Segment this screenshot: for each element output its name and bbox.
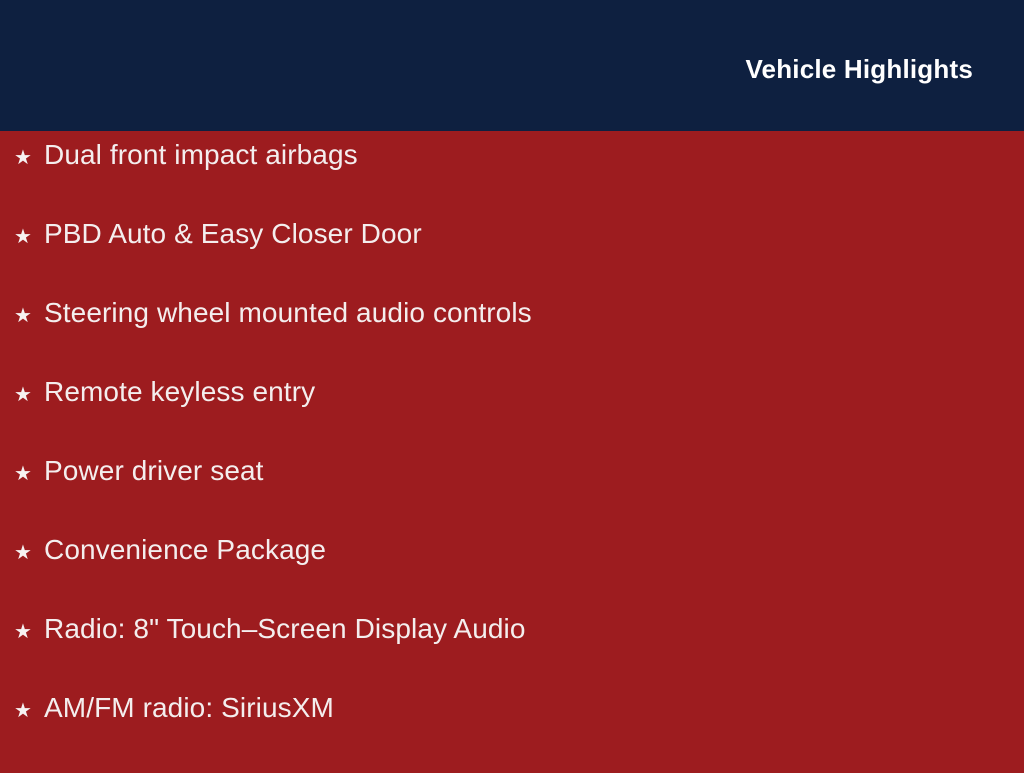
slide-header: Vehicle Highlights bbox=[0, 0, 1024, 131]
list-item-label: AM/FM radio: SiriusXM bbox=[44, 694, 334, 722]
list-item: ★ Convenience Package bbox=[0, 536, 1024, 615]
vehicle-highlights-slide: Vehicle Highlights ★ Dual front impact a… bbox=[0, 0, 1024, 768]
slide-body: ★ Dual front impact airbags ★ PBD Auto &… bbox=[0, 131, 1024, 768]
star-icon: ★ bbox=[14, 622, 44, 642]
list-item-label: PBD Auto & Easy Closer Door bbox=[44, 220, 422, 248]
star-icon: ★ bbox=[14, 306, 44, 326]
list-item: ★ AM/FM radio: SiriusXM bbox=[0, 694, 1024, 773]
list-item-label: Remote keyless entry bbox=[44, 378, 315, 406]
star-icon: ★ bbox=[14, 464, 44, 484]
list-item: ★ Dual front impact airbags bbox=[0, 141, 1024, 220]
list-item-label: Dual front impact airbags bbox=[44, 141, 358, 169]
list-item: ★ Power driver seat bbox=[0, 457, 1024, 536]
list-item-label: Convenience Package bbox=[44, 536, 326, 564]
list-item-label: Radio: 8" Touch–Screen Display Audio bbox=[44, 615, 526, 643]
vehicle-highlights-list: ★ Dual front impact airbags ★ PBD Auto &… bbox=[0, 141, 1024, 773]
list-item-label: Steering wheel mounted audio controls bbox=[44, 299, 532, 327]
star-icon: ★ bbox=[14, 701, 44, 721]
star-icon: ★ bbox=[14, 148, 44, 168]
star-icon: ★ bbox=[14, 543, 44, 563]
star-icon: ★ bbox=[14, 227, 44, 247]
list-item: ★ PBD Auto & Easy Closer Door bbox=[0, 220, 1024, 299]
page-title: Vehicle Highlights bbox=[745, 56, 973, 82]
list-item: ★ Steering wheel mounted audio controls bbox=[0, 299, 1024, 378]
star-icon: ★ bbox=[14, 385, 44, 405]
list-item: ★ Remote keyless entry bbox=[0, 378, 1024, 457]
list-item: ★ Radio: 8" Touch–Screen Display Audio bbox=[0, 615, 1024, 694]
list-item-label: Power driver seat bbox=[44, 457, 264, 485]
